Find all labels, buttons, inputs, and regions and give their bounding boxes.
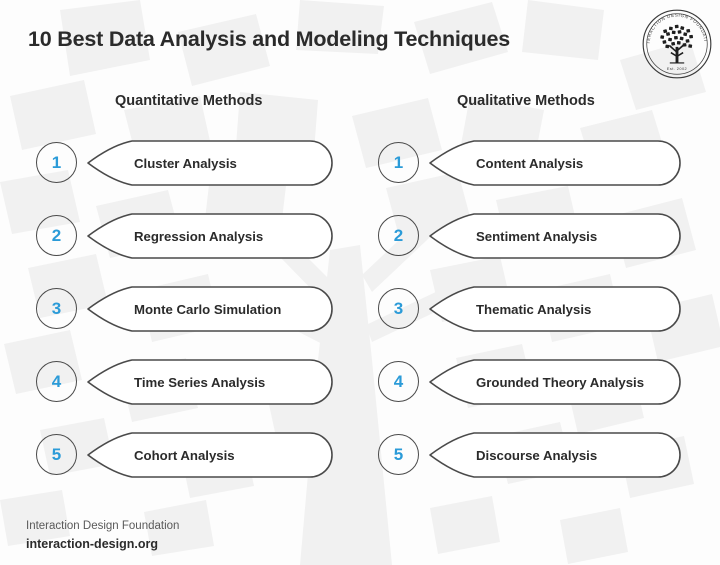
speech-bubble[interactable]: Sentiment Analysis bbox=[428, 210, 684, 262]
list-item[interactable]: 3 Thematic Analysis bbox=[342, 283, 702, 335]
list-item[interactable]: 1 Cluster Analysis bbox=[0, 137, 360, 189]
footer-url[interactable]: interaction-design.org bbox=[26, 535, 179, 553]
item-number: 5 bbox=[52, 446, 61, 463]
item-number-badge: 1 bbox=[378, 142, 419, 183]
technique-label: Monte Carlo Simulation bbox=[134, 283, 281, 335]
item-number: 5 bbox=[394, 446, 403, 463]
footer: Interaction Design Foundation interactio… bbox=[26, 518, 179, 553]
qualitative-methods-column: 1 Content Analysis 2 Sentiment bbox=[342, 0, 702, 565]
quantitative-methods-column: 1 Cluster Analysis 2 Regression bbox=[0, 0, 360, 565]
speech-bubble[interactable]: Monte Carlo Simulation bbox=[86, 283, 336, 335]
item-number-badge: 2 bbox=[378, 215, 419, 256]
item-number: 4 bbox=[394, 373, 403, 390]
item-number-badge: 1 bbox=[36, 142, 77, 183]
item-number-badge: 4 bbox=[378, 361, 419, 402]
speech-bubble[interactable]: Cohort Analysis bbox=[86, 429, 336, 481]
technique-label: Cohort Analysis bbox=[134, 429, 235, 481]
item-number: 2 bbox=[52, 227, 61, 244]
item-number: 1 bbox=[394, 154, 403, 171]
footer-organization: Interaction Design Foundation bbox=[26, 518, 179, 535]
speech-bubble[interactable]: Content Analysis bbox=[428, 137, 684, 189]
technique-label: Discourse Analysis bbox=[476, 429, 597, 481]
list-item[interactable]: 5 Discourse Analysis bbox=[342, 429, 702, 481]
speech-bubble[interactable]: Regression Analysis bbox=[86, 210, 336, 262]
technique-label: Regression Analysis bbox=[134, 210, 263, 262]
technique-label: Time Series Analysis bbox=[134, 356, 265, 408]
item-number-badge: 3 bbox=[36, 288, 77, 329]
speech-bubble[interactable]: Thematic Analysis bbox=[428, 283, 684, 335]
item-number: 3 bbox=[52, 300, 61, 317]
speech-bubble[interactable]: Time Series Analysis bbox=[86, 356, 336, 408]
technique-label: Sentiment Analysis bbox=[476, 210, 597, 262]
item-number: 2 bbox=[394, 227, 403, 244]
speech-bubble[interactable]: Discourse Analysis bbox=[428, 429, 684, 481]
item-number-badge: 3 bbox=[378, 288, 419, 329]
list-item[interactable]: 1 Content Analysis bbox=[342, 137, 702, 189]
item-number: 1 bbox=[52, 154, 61, 171]
item-number: 4 bbox=[52, 373, 61, 390]
item-number-badge: 4 bbox=[36, 361, 77, 402]
list-item[interactable]: 2 Sentiment Analysis bbox=[342, 210, 702, 262]
list-item[interactable]: 3 Monte Carlo Simulation bbox=[0, 283, 360, 335]
item-number: 3 bbox=[394, 300, 403, 317]
item-number-badge: 5 bbox=[36, 434, 77, 475]
item-number-badge: 5 bbox=[378, 434, 419, 475]
technique-label: Thematic Analysis bbox=[476, 283, 591, 335]
speech-bubble[interactable]: Grounded Theory Analysis bbox=[428, 356, 684, 408]
technique-label: Content Analysis bbox=[476, 137, 583, 189]
list-item[interactable]: 4 Grounded Theory Analysis bbox=[342, 356, 702, 408]
list-item[interactable]: 4 Time Series Analysis bbox=[0, 356, 360, 408]
technique-label: Grounded Theory Analysis bbox=[476, 356, 644, 408]
item-number-badge: 2 bbox=[36, 215, 77, 256]
technique-label: Cluster Analysis bbox=[134, 137, 237, 189]
speech-bubble[interactable]: Cluster Analysis bbox=[86, 137, 336, 189]
list-item[interactable]: 2 Regression Analysis bbox=[0, 210, 360, 262]
infographic-canvas: 10 Best Data Analysis and Modeling Techn… bbox=[0, 0, 720, 565]
list-item[interactable]: 5 Cohort Analysis bbox=[0, 429, 360, 481]
